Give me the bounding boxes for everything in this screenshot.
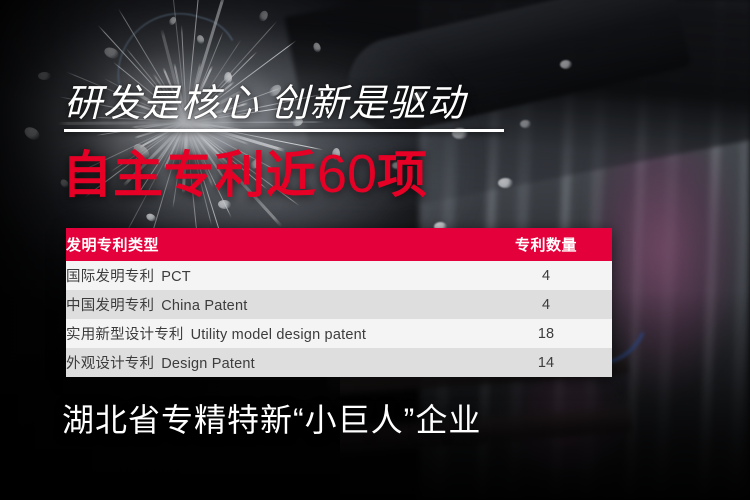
- cell-patent-type: 国际发明专利PCT: [66, 261, 480, 290]
- patent-table-head: 发明专利类型 专利数量: [66, 228, 612, 261]
- headline-secondary: 自主专利近60项: [62, 146, 428, 203]
- cell-patent-type: 中国发明专利China Patent: [66, 290, 480, 319]
- headline-divider: [64, 129, 504, 132]
- patent-type-cn: 中国发明专利: [66, 298, 154, 314]
- cell-patent-count: 4: [480, 290, 612, 319]
- patent-type-en: Utility model design patent: [191, 327, 366, 343]
- headline-secondary-number: 60: [317, 144, 377, 204]
- table-row: 中国发明专利China Patent4: [66, 290, 612, 319]
- column-header-type: 发明专利类型: [66, 228, 480, 261]
- patent-type-en: China Patent: [161, 298, 247, 314]
- footer-tagline: 湖北省专精特新“小巨人”企业: [62, 400, 481, 440]
- cell-patent-count: 4: [480, 261, 612, 290]
- table-header-row: 发明专利类型 专利数量: [66, 228, 612, 261]
- headline-secondary-prefix: 自主专利近: [62, 147, 317, 203]
- cell-patent-count: 14: [480, 348, 612, 377]
- table-row: 国际发明专利PCT4: [66, 261, 612, 290]
- column-header-count: 专利数量: [480, 228, 612, 261]
- cell-patent-count: 18: [480, 319, 612, 348]
- table-row: 外观设计专利Design Patent14: [66, 348, 612, 377]
- cell-patent-type: 实用新型设计专利Utility model design patent: [66, 319, 480, 348]
- banner-stage: 研发是核心 创新是驱动 自主专利近60项 发明专利类型 专利数量 国际发明专利P…: [0, 0, 750, 500]
- patent-type-cn: 国际发明专利: [66, 269, 154, 285]
- patent-table-body: 国际发明专利PCT4中国发明专利China Patent4实用新型设计专利Uti…: [66, 261, 612, 377]
- table-row: 实用新型设计专利Utility model design patent18: [66, 319, 612, 348]
- patent-type-cn: 外观设计专利: [66, 356, 154, 372]
- patent-type-en: PCT: [161, 269, 191, 285]
- banner-content: 研发是核心 创新是驱动 自主专利近60项 发明专利类型 专利数量 国际发明专利P…: [0, 0, 750, 500]
- patent-type-cn: 实用新型设计专利: [66, 327, 184, 343]
- headline-primary: 研发是核心 创新是驱动: [64, 82, 466, 126]
- patent-table: 发明专利类型 专利数量 国际发明专利PCT4中国发明专利China Patent…: [66, 228, 612, 377]
- headline-secondary-suffix: 项: [377, 147, 428, 203]
- cell-patent-type: 外观设计专利Design Patent: [66, 348, 480, 377]
- patent-type-en: Design Patent: [161, 356, 255, 372]
